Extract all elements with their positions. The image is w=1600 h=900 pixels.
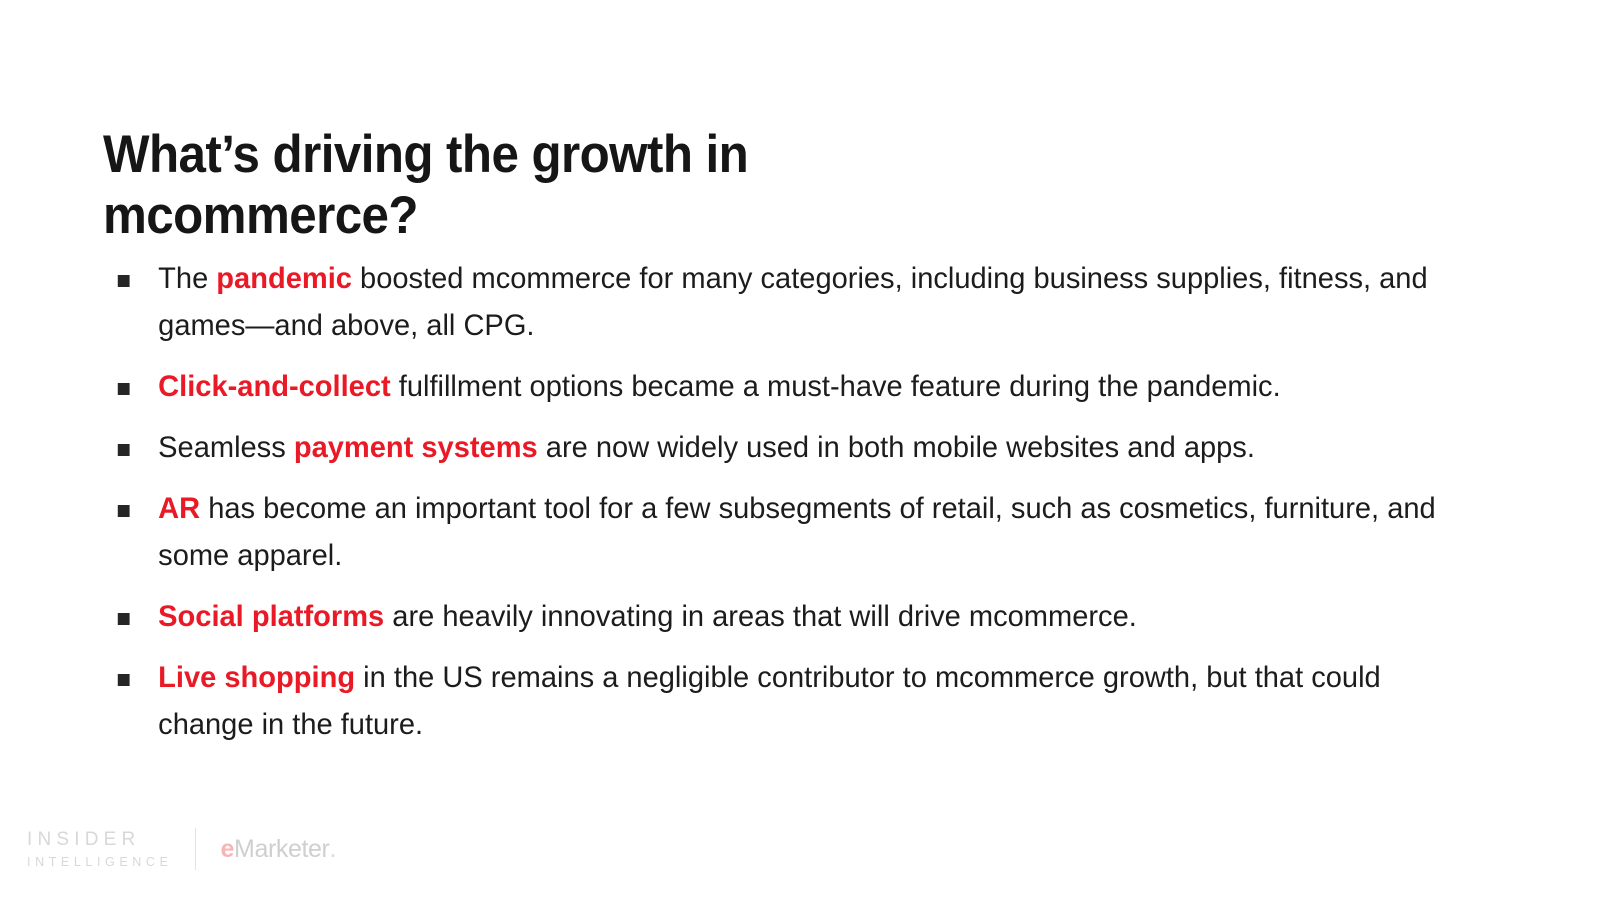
list-item-text: AR has become an important tool for a fe…	[158, 485, 1442, 579]
highlighted-term: Live shopping	[158, 661, 355, 694]
highlighted-term: payment systems	[294, 431, 538, 464]
highlighted-term: Social platforms	[158, 600, 384, 633]
highlighted-term: AR	[158, 492, 200, 525]
body-text: The	[158, 262, 216, 295]
body-text: Seamless	[158, 431, 294, 464]
body-text: are now widely used in both mobile websi…	[538, 431, 1255, 464]
square-bullet-icon	[118, 505, 130, 517]
list-item-text: Social platforms are heavily innovating …	[158, 593, 1442, 640]
list-item: The pandemic boosted mcommerce for many …	[103, 255, 1443, 349]
insider-logo-line1: INSIDER	[27, 830, 140, 849]
square-bullet-icon	[118, 613, 130, 625]
bullet-list: The pandemic boosted mcommerce for many …	[103, 255, 1463, 748]
list-item-text: Click-and-collect fulfillment options be…	[158, 363, 1442, 410]
emarketer-logo-e: e	[221, 835, 235, 864]
square-bullet-icon	[118, 383, 130, 395]
list-item: Live shopping in the US remains a neglig…	[103, 654, 1443, 748]
insider-logo-line2: INTELLIGENCE	[27, 856, 173, 869]
body-text: fulfillment options became a must-have f…	[391, 370, 1281, 403]
list-item: Social platforms are heavily innovating …	[103, 593, 1443, 640]
square-bullet-icon	[118, 444, 130, 456]
square-bullet-icon	[118, 674, 130, 686]
highlighted-term: pandemic	[216, 262, 352, 295]
logo-divider	[195, 828, 196, 870]
footer-logos: INSIDER INTELLIGENCE e Marketer .	[27, 823, 336, 875]
list-item-text: The pandemic boosted mcommerce for many …	[158, 255, 1442, 349]
list-item: AR has become an important tool for a fe…	[103, 485, 1443, 579]
body-text: has become an important tool for a few s…	[158, 492, 1436, 572]
slide-canvas: What’s driving the growth in mcommerce? …	[0, 0, 1600, 900]
list-item: Seamless payment systems are now widely …	[103, 424, 1443, 471]
page-title: What’s driving the growth in mcommerce?	[103, 124, 940, 246]
insider-intelligence-logo: INSIDER INTELLIGENCE	[27, 830, 195, 869]
list-item-text: Seamless payment systems are now widely …	[158, 424, 1442, 471]
emarketer-logo: e Marketer .	[221, 835, 337, 864]
square-bullet-icon	[118, 275, 130, 287]
list-item: Click-and-collect fulfillment options be…	[103, 363, 1443, 410]
emarketer-logo-text: Marketer	[234, 835, 329, 864]
body-text: are heavily innovating in areas that wil…	[384, 600, 1137, 633]
emarketer-logo-dot: .	[329, 835, 336, 864]
highlighted-term: Click-and-collect	[158, 370, 391, 403]
list-item-text: Live shopping in the US remains a neglig…	[158, 654, 1442, 748]
